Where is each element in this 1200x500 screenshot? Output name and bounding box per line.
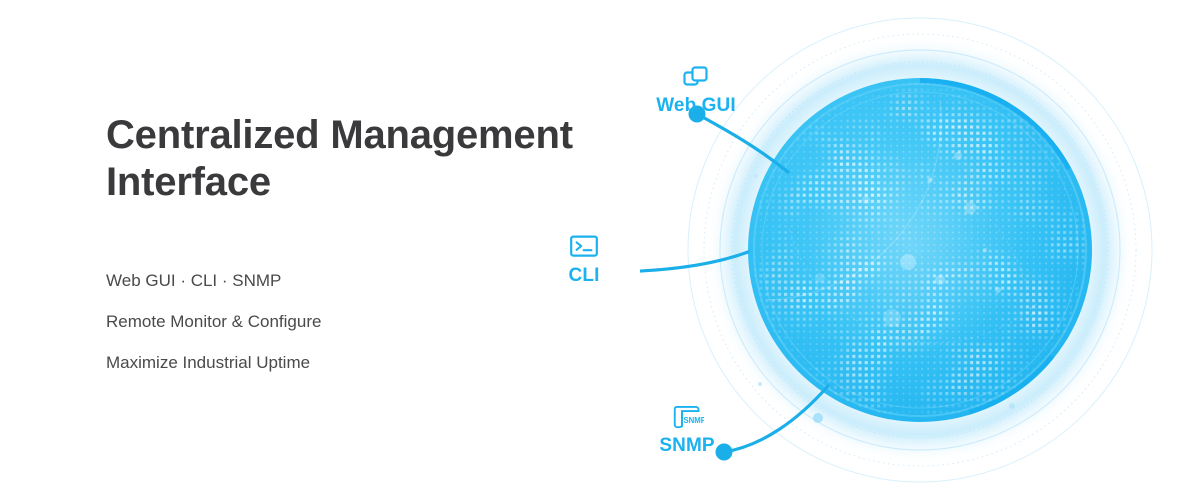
windows-copy-icon bbox=[682, 64, 710, 90]
text-panel: Centralized Management Interface bbox=[106, 112, 626, 206]
feature-item-0: Web GUI · CLI · SNMP bbox=[106, 272, 546, 289]
snmp-document-icon: SNMP bbox=[670, 404, 704, 430]
feature-item-2: Maximize Industrial Uptime bbox=[106, 354, 546, 371]
snmp-icon-glyph: SNMP bbox=[683, 416, 704, 425]
callout-label-cli: CLI bbox=[552, 266, 616, 285]
feature-item-1: Remote Monitor & Configure bbox=[106, 313, 546, 330]
callout-label-snmp: SNMP bbox=[646, 436, 728, 455]
terminal-prompt-icon bbox=[569, 234, 599, 260]
callout-cli[interactable]: CLI bbox=[552, 234, 616, 285]
callout-snmp[interactable]: SNMP SNMP bbox=[646, 404, 728, 455]
page-title: Centralized Management Interface bbox=[106, 112, 626, 206]
callout-web-gui[interactable]: Web GUI bbox=[650, 64, 742, 115]
feature-list: Web GUI · CLI · SNMP Remote Monitor & Co… bbox=[106, 272, 546, 371]
callout-label-web-gui: Web GUI bbox=[650, 96, 742, 115]
hero-banner: Web GUI CLI SNMP SNMP Centralized Manage… bbox=[0, 0, 1200, 500]
